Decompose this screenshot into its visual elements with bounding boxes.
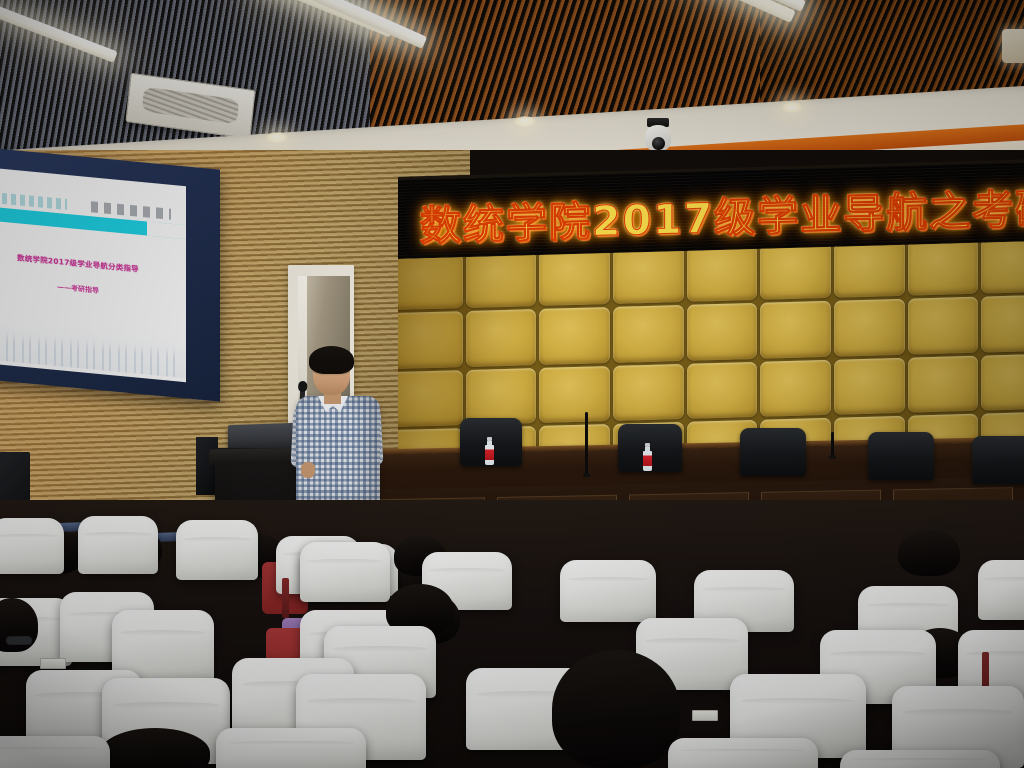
wall-pad [981, 241, 1024, 294]
presenter-hair [309, 346, 354, 374]
presenter-hand [301, 462, 315, 478]
wall-pad [687, 361, 758, 418]
ceiling-fixture-corner [1002, 29, 1024, 63]
wall-pad [981, 295, 1024, 352]
microphone-icon [585, 412, 588, 474]
auditorium-seat[interactable] [78, 516, 158, 574]
wall-pad [834, 357, 905, 414]
wall-pad [466, 309, 537, 366]
wall-pad [760, 243, 831, 300]
audience-area [0, 500, 1024, 768]
seat-number-tag [40, 658, 66, 669]
water-bottle[interactable] [485, 437, 494, 465]
wall-pad [539, 249, 610, 306]
wall-pad [834, 241, 905, 298]
auditorium-seat[interactable] [840, 750, 1000, 768]
camera-lens [652, 137, 665, 150]
projector-screen: 数统学院2017级学业导航分类指导 ——考研指导 [0, 166, 186, 382]
wall-pad [834, 299, 905, 356]
downlight-icon [780, 101, 804, 114]
wall-pad [908, 241, 979, 296]
lecture-hall-photo: 数统学院2017级学业导航之考研指 数统学院2017级学业 [0, 0, 1024, 768]
auditorium-seat[interactable] [176, 520, 258, 580]
presenter-shirt [296, 396, 380, 504]
downlight-icon [265, 131, 289, 144]
audience-head [898, 530, 960, 576]
presidium-chair[interactable] [868, 432, 934, 480]
presidium-chair[interactable] [972, 436, 1024, 484]
bottle-body [643, 451, 652, 471]
seat-number-tag [692, 710, 718, 721]
bottle-body [485, 445, 494, 465]
wall-pad [908, 297, 979, 354]
wall-pad [613, 247, 684, 304]
slide-subtitle: ——考研指导 [0, 274, 186, 304]
wall-pad [539, 307, 610, 364]
wall-pad [760, 359, 831, 416]
wall-pad [398, 311, 463, 368]
wall-pad [539, 366, 610, 423]
auditorium-seat[interactable] [978, 560, 1024, 620]
eyeglasses-icon [6, 636, 32, 645]
presidium-chair[interactable] [740, 428, 806, 476]
wall-pad [981, 353, 1024, 410]
wall-pad [687, 303, 758, 360]
slide-logo-text [2, 192, 67, 210]
wall-pad [760, 301, 831, 358]
auditorium-seat[interactable] [300, 542, 390, 602]
water-bottle[interactable] [643, 443, 652, 471]
audience-head-foreground [552, 650, 680, 768]
slide-title: 数统学院2017级学业导航分类指导 [0, 248, 186, 279]
auditorium-seat[interactable] [668, 738, 818, 768]
downlight-icon [513, 115, 537, 128]
wall-pad [466, 368, 537, 425]
wall-pad [398, 370, 463, 427]
auditorium-seat[interactable] [216, 728, 366, 768]
auditorium-seat[interactable] [0, 736, 110, 768]
wall-pad [398, 253, 463, 310]
podium-laptop[interactable] [228, 423, 296, 451]
wall-pad [613, 305, 684, 362]
wall-pad [613, 363, 684, 420]
wall-pad [908, 355, 979, 412]
wall-pad [466, 251, 537, 308]
auditorium-seat[interactable] [560, 560, 656, 622]
led-banner-text: 数统学院2017级学业导航之考研指 [420, 173, 1024, 252]
microphone-icon [831, 432, 834, 456]
auditorium-seat[interactable] [0, 518, 64, 574]
wall-pad [687, 245, 758, 302]
seat-frame-leg [282, 578, 289, 618]
